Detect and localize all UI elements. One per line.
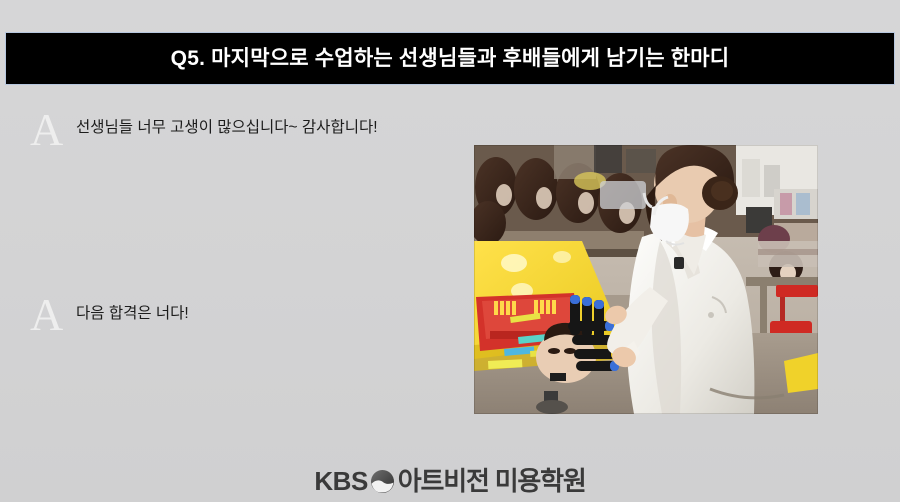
answer-text-1: 선생님들 너무 고생이 많으십니다~ 감사합니다!: [76, 108, 378, 139]
kbs-globe-emblem-icon: [370, 469, 395, 494]
answer-block-1: A 선생님들 너무 고생이 많으십니다~ 감사합니다!: [30, 108, 450, 152]
logo-brand-name: 아트비전 미용학원: [398, 468, 586, 494]
answer-text-2: 다음 합격은 너다!: [76, 293, 189, 325]
footer-logo: KBS 아트비전 미용학원: [0, 468, 900, 494]
logo-kbs-text: KBS: [314, 468, 367, 494]
answer-mark-icon: A: [30, 293, 76, 337]
answer-block-2: A 다음 합격은 너다!: [30, 293, 450, 337]
answer-mark-icon: A: [30, 108, 76, 152]
slide-root: Q5. 마지막으로 수업하는 선생님들과 후배들에게 남기는 한마디 A 선생님…: [0, 0, 900, 502]
classroom-photo: [474, 145, 818, 414]
title-bar: Q5. 마지막으로 수업하는 선생님들과 후배들에게 남기는 한마디: [5, 32, 895, 85]
page-title: Q5. 마지막으로 수업하는 선생님들과 후배들에게 남기는 한마디: [171, 48, 730, 69]
